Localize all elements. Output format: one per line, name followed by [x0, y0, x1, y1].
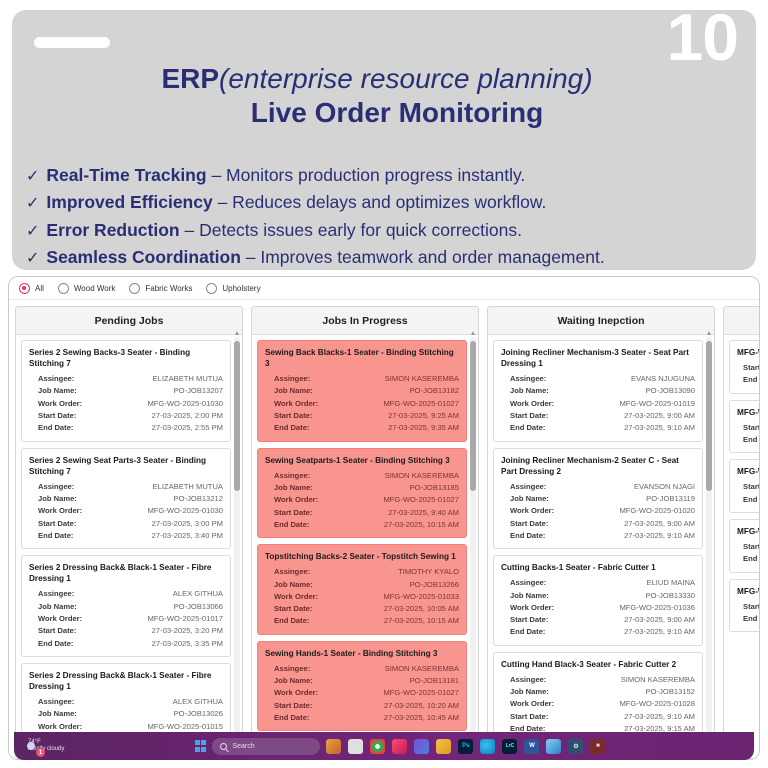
field-value: SIMON KASEREMBA	[336, 373, 459, 385]
job-card-startdate-row: Start Date:27-03-2025, 9:00 AM	[501, 518, 695, 530]
job-card-enddate-row: End Date:27-03-2025, 9:10 AM	[501, 422, 695, 434]
field-value: MFG-WO-2025-01019	[572, 398, 695, 410]
filter-option-wood-work[interactable]: Wood Work	[58, 283, 116, 294]
lrc-icon: LrC	[502, 739, 517, 754]
job-card-enddate-row: End Date:27-03-2025, 9:10 AM	[501, 530, 695, 542]
field-label: End Date:	[274, 615, 336, 627]
job-card-assignee-row: Assingee:TIMOTHY KYALO	[265, 566, 459, 578]
field-label: End Date:	[274, 519, 336, 531]
field-label: Job Name:	[274, 675, 336, 687]
scrollbar-thumb[interactable]	[470, 341, 476, 491]
field-value: 27-03-2025, 3:20 PM	[100, 625, 223, 637]
field-label: Assingee:	[274, 373, 336, 385]
field-value: 27-03-2025, 9:00 AM	[572, 518, 695, 530]
scroll-up-arrow-icon[interactable]	[235, 331, 239, 335]
field-value: ELIUD MAINA	[572, 577, 695, 589]
taskbar-search-box[interactable]: Search	[212, 738, 320, 755]
job-card-startdate-row: Start Date:27-03-2025, 9:00 AM	[501, 410, 695, 422]
job-card-title: Series 2 Dressing Back& Black-1 Seater -…	[29, 562, 223, 584]
photoshop-icon: Ps	[458, 739, 473, 754]
field-label: Work Order:	[274, 687, 336, 699]
field-value: MFG-WO-2025-01027	[336, 398, 459, 410]
field-value: MFG-WO-2025-01017	[100, 613, 223, 625]
field-label: Assingee:	[510, 481, 572, 493]
screen: 10 ERP(enterprise resource planning) Liv…	[0, 0, 768, 768]
field-value: 27-03-2025, 3:00 PM	[100, 518, 223, 530]
field-value: 27-03-2025, 2:00 PM	[100, 410, 223, 422]
field-label: Start Date:	[510, 711, 572, 723]
column-card-list[interactable]: Joining Recliner Mechanism-3 Seater - Se…	[488, 335, 714, 758]
field-value: EVANS NJUGUNA	[572, 373, 695, 385]
field-value: MFG-WO-2025-01015	[100, 721, 223, 733]
field-label: Job Name:	[38, 601, 100, 613]
column-card-list[interactable]: MFG-WO-2025-0 Start Date: End Date: MFG-…	[724, 335, 760, 758]
job-card-workorder-row: Work Order:MFG-WO-2025-01017	[29, 613, 223, 625]
board-column-partial: MFG-WO-2025-0 Start Date: End Date: MFG-…	[723, 306, 760, 759]
field-value: PO-JOB13185	[336, 482, 459, 494]
job-card-jobname-row: Job Name:PO-JOB13026	[29, 708, 223, 720]
field-label: End Date:	[38, 422, 100, 434]
job-card-enddate-row: End Date:	[737, 434, 760, 446]
field-label: Start Date:	[274, 603, 336, 615]
job-card-workorder-row: Work Order:MFG-WO-2025-01030	[29, 505, 223, 517]
field-label: Start Date:	[510, 518, 572, 530]
field-value: PO-JOB13119	[572, 493, 695, 505]
board-column-waiting-inspection: Waiting Inepction Joining Recliner Mecha…	[487, 306, 715, 759]
bullet-item: ✓ Seamless Coordination – Improves teamw…	[26, 244, 746, 270]
field-value: MFG-WO-2025-01036	[572, 602, 695, 614]
job-card[interactable]: MFG-WO-2025-0 Start Date: End Date:	[729, 400, 760, 454]
job-card[interactable]: Joining Recliner Mechanism-2 Seater C - …	[493, 448, 703, 550]
field-value: PO-JOB13090	[572, 385, 695, 397]
job-card-title: Joining Recliner Mechanism-3 Seater - Se…	[501, 347, 695, 369]
field-label: Assingee:	[274, 566, 336, 578]
job-card-title: Sewing Hands-1 Seater - Binding Stitchin…	[265, 648, 459, 659]
field-value: 27-03-2025, 3:40 PM	[100, 530, 223, 542]
filter-option-upholstery[interactable]: Upholstery	[206, 283, 260, 294]
job-card-jobname-row: Job Name:PO-JOB13181	[265, 675, 459, 687]
job-card-enddate-row: End Date:27-03-2025, 3:35 PM	[29, 638, 223, 650]
column-scrollbar[interactable]	[470, 337, 476, 756]
field-label: Start Date:	[743, 422, 760, 434]
category-filter-bar: All Wood Work Fabric Works Upholstery	[9, 277, 759, 300]
slide-title-line-2: Live Order Monitoring	[52, 96, 742, 130]
field-label: Start Date:	[743, 601, 760, 613]
taskbar-center-group: Search Ps LrC W ⚙ ■	[195, 738, 624, 755]
edge-icon[interactable]	[480, 739, 495, 754]
field-value: 27-03-2025, 9:10 AM	[572, 422, 695, 434]
field-label: Work Order:	[510, 505, 572, 517]
field-value: 27-03-2025, 9:00 AM	[572, 410, 695, 422]
field-label: Start Date:	[38, 410, 100, 422]
field-label: Job Name:	[510, 385, 572, 397]
job-card-jobname-row: Job Name:PO-JOB13182	[265, 385, 459, 397]
job-card-workorder-row: Work Order:MFG-WO-2025-01036	[501, 602, 695, 614]
job-card-startdate-row: Start Date:27-03-2025, 10:20 AM	[265, 700, 459, 712]
field-label: Work Order:	[38, 398, 100, 410]
job-card[interactable]: MFG-WO-2025-0 Start Date: End Date:	[729, 340, 760, 394]
bullet-text: – Monitors production progress instantly…	[207, 165, 526, 185]
field-value: 27-03-2025, 9:25 AM	[336, 410, 459, 422]
field-label: End Date:	[510, 626, 572, 638]
field-label: Assingee:	[38, 588, 100, 600]
search-icon	[220, 743, 227, 750]
column-card-list[interactable]: Series 2 Sewing Backs-3 Seater - Binding…	[16, 335, 242, 758]
job-card-jobname-row: Job Name:PO-JOB13066	[29, 601, 223, 613]
field-label: Start Date:	[38, 625, 100, 637]
field-value: MFG-WO-2025-01033	[336, 591, 459, 603]
taskbar-app-icons: Ps LrC W ⚙ ■	[326, 739, 605, 754]
field-label: End Date:	[743, 494, 760, 506]
field-label: Work Order:	[274, 591, 336, 603]
field-label: End Date:	[38, 530, 100, 542]
radio-icon[interactable]	[58, 283, 69, 294]
scrollbar-thumb[interactable]	[706, 341, 712, 491]
field-label: Job Name:	[274, 482, 336, 494]
photos-icon[interactable]	[326, 739, 341, 754]
slide-title-line-1: ERP(enterprise resource planning)	[12, 62, 742, 96]
job-card[interactable]: MFG-WO-2025-0 Start Date: End Date:	[729, 579, 760, 633]
check-icon: ✓	[26, 247, 39, 270]
job-card-startdate-row: Start Date:27-03-2025, 9:00 AM	[501, 614, 695, 626]
scroll-up-arrow-icon[interactable]	[707, 331, 711, 335]
windows-start-icon[interactable]	[195, 740, 207, 752]
job-card-workorder-row: Work Order:MFG-WO-2025-01020	[501, 505, 695, 517]
field-value: MFG-WO-2025-01030	[100, 398, 223, 410]
job-card[interactable]: Topstitching Backs-2 Seater - Topstitch …	[257, 544, 467, 635]
job-card-workorder-row: Work Order:MFG-WO-2025-01027	[265, 398, 459, 410]
job-card-workorder-row: Work Order:MFG-WO-2025-01027	[265, 494, 459, 506]
slide-bullet-list: ✓ Real-Time Tracking – Monitors producti…	[26, 162, 746, 270]
job-card-enddate-row: End Date:	[737, 553, 760, 565]
field-label: Start Date:	[274, 507, 336, 519]
job-card-enddate-row: End Date:	[737, 374, 760, 386]
job-card-jobname-row: Job Name:PO-JOB13207	[29, 385, 223, 397]
job-card-jobname-row: Job Name:PO-JOB13152	[501, 686, 695, 698]
search-placeholder: Search	[232, 743, 254, 750]
job-card-title: MFG-WO-2025-0	[737, 407, 760, 418]
field-label: Start Date:	[743, 362, 760, 374]
field-value: PO-JOB13330	[572, 590, 695, 602]
job-card-startdate-row: Start Date:27-03-2025, 3:00 PM	[29, 518, 223, 530]
filter-option-all[interactable]: All	[19, 283, 44, 294]
field-label: End Date:	[743, 374, 760, 386]
job-card-title: Joining Recliner Mechanism-2 Seater C - …	[501, 455, 695, 477]
job-card[interactable]: Joining Recliner Mechanism-3 Seater - Se…	[493, 340, 703, 442]
bullet-text: – Improves teamwork and order management…	[241, 247, 605, 267]
field-label: Job Name:	[510, 493, 572, 505]
check-icon: ✓	[26, 192, 39, 216]
settings-icon: ⚙	[568, 739, 583, 754]
job-card-assignee-row: Assingee:SIMON KASEREMBA	[501, 674, 695, 686]
field-label: Work Order:	[274, 398, 336, 410]
field-value: ELIZABETH MUTUA	[100, 481, 223, 493]
job-card[interactable]: Sewing Seatparts-1 Seater - Binding Stit…	[257, 448, 467, 539]
job-card-assignee-row: Assingee:EVANSON NJAGI	[501, 481, 695, 493]
field-value: MFG-WO-2025-01027	[336, 494, 459, 506]
news-icon[interactable]	[348, 739, 363, 754]
field-label: Start Date:	[274, 700, 336, 712]
weather-widget[interactable]: 1 74°F Mostly cloudy	[14, 739, 64, 754]
filter-label: All	[35, 284, 44, 293]
erp-app-window: All Wood Work Fabric Works Upholstery Pe…	[8, 276, 760, 760]
field-value: 27-03-2025, 9:10 AM	[572, 626, 695, 638]
job-card[interactable]: Series 2 Sewing Seat Parts-3 Seater - Bi…	[21, 448, 231, 550]
field-value: 27-03-2025, 10:15 AM	[336, 519, 459, 531]
job-card[interactable]: MFG-WO-2025-0 Start Date: End Date:	[729, 519, 760, 573]
job-card-assignee-row: Assingee:ELIUD MAINA	[501, 577, 695, 589]
job-card-workorder-row: Work Order:MFG-WO-2025-01019	[501, 398, 695, 410]
filter-label: Upholstery	[222, 284, 260, 293]
bullet-heading: Real-Time Tracking	[46, 165, 206, 185]
column-header	[724, 307, 760, 335]
field-value: ALEX GITHUA	[100, 588, 223, 600]
field-label: End Date:	[743, 434, 760, 446]
column-header: Pending Jobs	[16, 307, 242, 335]
folder-icon[interactable]	[436, 739, 451, 754]
job-card-title: Topstitching Backs-2 Seater - Topstitch …	[265, 551, 459, 562]
field-label: Start Date:	[743, 481, 760, 493]
field-value: 27-03-2025, 10:05 AM	[336, 603, 459, 615]
slide-decor-bar	[34, 37, 110, 48]
field-label: Work Order:	[510, 398, 572, 410]
column-scrollbar[interactable]	[706, 337, 712, 756]
job-card-startdate-row: Start Date:27-03-2025, 9:25 AM	[265, 410, 459, 422]
field-label: Work Order:	[274, 494, 336, 506]
field-value: 27-03-2025, 10:15 AM	[336, 615, 459, 627]
job-card-startdate-row: Start Date:27-03-2025, 2:00 PM	[29, 410, 223, 422]
bullet-heading: Seamless Coordination	[46, 247, 241, 267]
job-card[interactable]: Series 2 Sewing Backs-3 Seater - Binding…	[21, 340, 231, 442]
job-card-title: MFG-WO-2025-0	[737, 466, 760, 477]
field-label: Start Date:	[743, 541, 760, 553]
filter-option-fabric-works[interactable]: Fabric Works	[129, 283, 192, 294]
field-value: MFG-WO-2025-01027	[336, 687, 459, 699]
board-column-jobs-in-progress: Jobs In Progress Sewing Back Blacks-1 Se…	[251, 306, 479, 759]
field-value: SIMON KASEREMBA	[336, 663, 459, 675]
job-card-startdate-row: Start Date:27-03-2025, 10:05 AM	[265, 603, 459, 615]
job-card-enddate-row: End Date:	[737, 613, 760, 625]
filter-label: Fabric Works	[145, 284, 192, 293]
bullet-item: ✓ Improved Efficiency – Reduces delays a…	[26, 189, 746, 216]
field-label: End Date:	[274, 712, 336, 724]
field-value: 27-03-2025, 9:10 AM	[572, 530, 695, 542]
job-card-workorder-row: Work Order:MFG-WO-2025-01015	[29, 721, 223, 733]
job-card-title: MFG-WO-2025-0	[737, 347, 760, 358]
bullet-item: ✓ Real-Time Tracking – Monitors producti…	[26, 162, 746, 189]
field-label: Start Date:	[510, 614, 572, 626]
field-label: Job Name:	[274, 579, 336, 591]
job-card-assignee-row: Assingee:ALEX GITHUA	[29, 588, 223, 600]
job-card[interactable]: Series 2 Dressing Back& Black-1 Seater -…	[21, 555, 231, 657]
job-card-startdate-row: Start Date:27-03-2025, 9:10 AM	[501, 711, 695, 723]
field-label: End Date:	[510, 422, 572, 434]
field-value: PO-JOB13066	[100, 601, 223, 613]
field-value: PO-JOB13266	[336, 579, 459, 591]
field-label: Assingee:	[510, 674, 572, 686]
field-label: Start Date:	[38, 518, 100, 530]
job-card-title: MFG-WO-2025-0	[737, 586, 760, 597]
field-value: PO-JOB13026	[100, 708, 223, 720]
job-card-workorder-row: Work Order:MFG-WO-2025-01027	[265, 687, 459, 699]
field-label: Start Date:	[510, 410, 572, 422]
field-label: Assingee:	[38, 696, 100, 708]
windows-taskbar: 1 74°F Mostly cloudy Search Ps	[14, 732, 754, 760]
title-erp-acronym: ERP	[161, 63, 219, 94]
word-icon: W	[524, 739, 539, 754]
app-icon: ■	[590, 739, 605, 754]
bullet-text: – Reduces delays and optimizes workflow.	[213, 192, 547, 212]
field-label: End Date:	[274, 422, 336, 434]
field-label: Work Order:	[510, 698, 572, 710]
board-column-pending-jobs: Pending Jobs Series 2 Sewing Backs-3 Sea…	[15, 306, 243, 759]
field-label: End Date:	[510, 530, 572, 542]
field-label: Job Name:	[38, 385, 100, 397]
field-label: Assingee:	[274, 470, 336, 482]
chrome-icon[interactable]	[370, 739, 385, 754]
scroll-up-arrow-icon[interactable]	[471, 331, 475, 335]
job-card-startdate-row: Start Date:	[737, 422, 760, 434]
job-card-title: MFG-WO-2025-0	[737, 526, 760, 537]
job-card[interactable]: MFG-WO-2025-0 Start Date: End Date:	[729, 459, 760, 513]
field-value: PO-JOB13212	[100, 493, 223, 505]
job-card-title: Cutting Hand Black-3 Seater - Fabric Cut…	[501, 659, 695, 670]
field-value: 27-03-2025, 9:40 AM	[336, 507, 459, 519]
radio-icon[interactable]	[206, 283, 217, 294]
field-value: 27-03-2025, 10:45 AM	[336, 712, 459, 724]
job-card-assignee-row: Assingee:SIMON KASEREMBA	[265, 663, 459, 675]
job-card-enddate-row: End Date:27-03-2025, 2:55 PM	[29, 422, 223, 434]
field-label: Job Name:	[510, 686, 572, 698]
job-card-title: Series 2 Dressing Back& Black-1 Seater -…	[29, 670, 223, 692]
scrollbar-thumb[interactable]	[234, 341, 240, 491]
job-card-enddate-row: End Date:27-03-2025, 9:10 AM	[501, 626, 695, 638]
field-label: End Date:	[38, 638, 100, 650]
radio-icon[interactable]	[129, 283, 140, 294]
check-icon: ✓	[26, 220, 39, 244]
field-label: Job Name:	[510, 590, 572, 602]
job-card-startdate-row: Start Date:	[737, 481, 760, 493]
job-card[interactable]: Sewing Back Blacks-1 Seater - Binding St…	[257, 340, 467, 442]
job-card-jobname-row: Job Name:PO-JOB13330	[501, 590, 695, 602]
title-erp-expansion: (enterprise resource planning)	[219, 63, 593, 94]
check-icon: ✓	[26, 165, 39, 189]
bullet-heading: Error Reduction	[46, 220, 179, 240]
bullet-item: ✓ Error Reduction – Detects issues early…	[26, 217, 746, 244]
field-label: Job Name:	[38, 493, 100, 505]
job-card-assignee-row: Assingee:SIMON KASEREMBA	[265, 373, 459, 385]
onedrive-icon[interactable]	[414, 739, 429, 754]
field-label: Assingee:	[38, 373, 100, 385]
field-value: PO-JOB13152	[572, 686, 695, 698]
job-card-enddate-row: End Date:27-03-2025, 10:15 AM	[265, 615, 459, 627]
job-card-jobname-row: Job Name:PO-JOB13266	[265, 579, 459, 591]
field-value: SIMON KASEREMBA	[336, 470, 459, 482]
job-card-enddate-row: End Date:27-03-2025, 9:35 AM	[265, 422, 459, 434]
field-value: PO-JOB13181	[336, 675, 459, 687]
field-label: End Date:	[743, 613, 760, 625]
job-card-enddate-row: End Date:	[737, 494, 760, 506]
job-card-jobname-row: Job Name:PO-JOB13119	[501, 493, 695, 505]
slide-title-block: ERP(enterprise resource planning) Live O…	[12, 62, 742, 130]
field-value: TIMOTHY KYALO	[336, 566, 459, 578]
field-value: ELIZABETH MUTUA	[100, 373, 223, 385]
job-card-assignee-row: Assingee:ALEX GITHUA	[29, 696, 223, 708]
job-card-workorder-row: Work Order:MFG-WO-2025-01033	[265, 591, 459, 603]
job-card-workorder-row: Work Order:MFG-WO-2025-01028	[501, 698, 695, 710]
job-card-title: Series 2 Sewing Seat Parts-3 Seater - Bi…	[29, 455, 223, 477]
job-card-jobname-row: Job Name:PO-JOB13090	[501, 385, 695, 397]
job-card[interactable]: Sewing Hands-1 Seater - Binding Stitchin…	[257, 641, 467, 732]
field-label: Job Name:	[274, 385, 336, 397]
paint-icon[interactable]	[392, 739, 407, 754]
field-value: 27-03-2025, 10:20 AM	[336, 700, 459, 712]
job-card[interactable]: Cutting Hand Black-3 Seater - Fabric Cut…	[493, 652, 703, 743]
field-label: Work Order:	[38, 505, 100, 517]
column-header: Waiting Inepction	[488, 307, 714, 335]
job-card-title: Sewing Seatparts-1 Seater - Binding Stit…	[265, 455, 459, 466]
column-header: Jobs In Progress	[252, 307, 478, 335]
presentation-slide: 10 ERP(enterprise resource planning) Liv…	[12, 10, 756, 270]
job-card-jobname-row: Job Name:PO-JOB13185	[265, 482, 459, 494]
job-card-assignee-row: Assingee:ELIZABETH MUTUA	[29, 481, 223, 493]
field-value: 27-03-2025, 9:10 AM	[572, 711, 695, 723]
field-value: SIMON KASEREMBA	[572, 674, 695, 686]
field-label: Work Order:	[38, 721, 100, 733]
snip-icon[interactable]	[546, 739, 561, 754]
field-value: EVANSON NJAGI	[572, 481, 695, 493]
field-value: 27-03-2025, 3:35 PM	[100, 638, 223, 650]
job-card-assignee-row: Assingee:EVANS NJUGUNA	[501, 373, 695, 385]
field-label: End Date:	[743, 553, 760, 565]
job-card-enddate-row: End Date:27-03-2025, 3:40 PM	[29, 530, 223, 542]
bullet-heading: Improved Efficiency	[46, 192, 212, 212]
field-value: PO-JOB13207	[100, 385, 223, 397]
field-value: 27-03-2025, 2:55 PM	[100, 422, 223, 434]
field-value: MFG-WO-2025-01020	[572, 505, 695, 517]
field-value: PO-JOB13182	[336, 385, 459, 397]
field-value: ALEX GITHUA	[100, 696, 223, 708]
job-card-startdate-row: Start Date:	[737, 362, 760, 374]
job-card-workorder-row: Work Order:MFG-WO-2025-01030	[29, 398, 223, 410]
job-card-enddate-row: End Date:27-03-2025, 10:45 AM	[265, 712, 459, 724]
column-scrollbar[interactable]	[234, 337, 240, 756]
bullet-text: – Detects issues early for quick correct…	[180, 220, 522, 240]
job-card[interactable]: Cutting Backs-1 Seater - Fabric Cutter 1…	[493, 555, 703, 646]
field-label: Assingee:	[510, 373, 572, 385]
field-label: Assingee:	[274, 663, 336, 675]
job-card-startdate-row: Start Date:27-03-2025, 3:20 PM	[29, 625, 223, 637]
slide-number: 10	[667, 10, 738, 70]
job-card-startdate-row: Start Date:27-03-2025, 9:40 AM	[265, 507, 459, 519]
field-label: Assingee:	[38, 481, 100, 493]
job-card-title: Sewing Back Blacks-1 Seater - Binding St…	[265, 347, 459, 369]
job-card-startdate-row: Start Date:	[737, 601, 760, 613]
filter-label: Wood Work	[74, 284, 116, 293]
field-label: Job Name:	[38, 708, 100, 720]
radio-icon[interactable]	[19, 283, 30, 294]
field-value: 27-03-2025, 9:35 AM	[336, 422, 459, 434]
field-label: Start Date:	[274, 410, 336, 422]
field-value: MFG-WO-2025-01030	[100, 505, 223, 517]
job-card-jobname-row: Job Name:PO-JOB13212	[29, 493, 223, 505]
column-card-list[interactable]: Sewing Back Blacks-1 Seater - Binding St…	[252, 335, 478, 758]
field-label: Assingee:	[510, 577, 572, 589]
kanban-board: Pending Jobs Series 2 Sewing Backs-3 Sea…	[9, 300, 759, 759]
job-card-title: Cutting Backs-1 Seater - Fabric Cutter 1	[501, 562, 695, 573]
field-value: MFG-WO-2025-01028	[572, 698, 695, 710]
field-label: Work Order:	[510, 602, 572, 614]
